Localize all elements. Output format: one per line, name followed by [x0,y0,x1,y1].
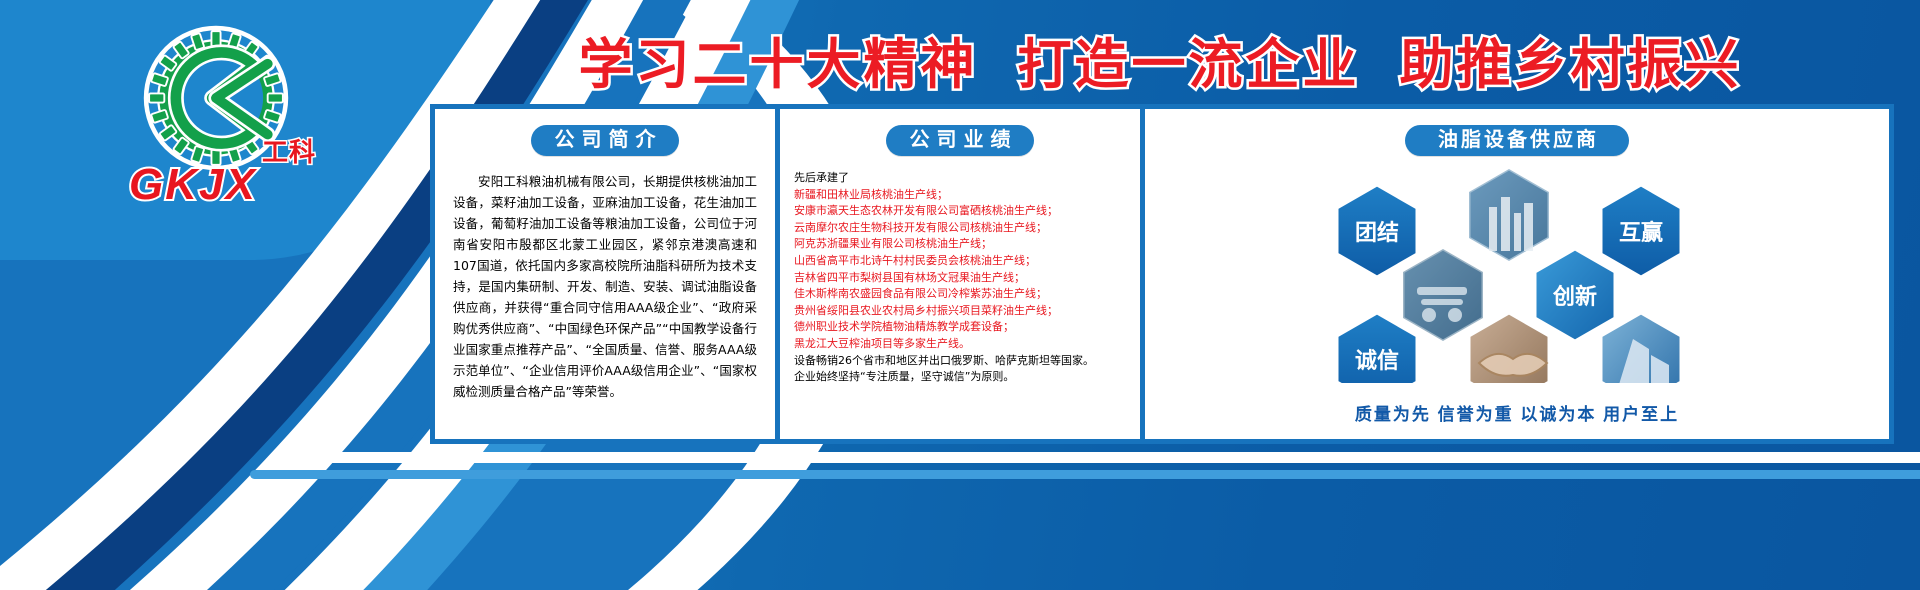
achievement-item: 佳木斯桦南农盛园食品有限公司冷榨紫苏油生产线； [794,286,1140,303]
panel-title-company-profile: 公司简介 [531,125,679,156]
content-frame: 公司简介 安阳工科粮油机械有限公司，长期提供核桃油加工设备，菜籽油加工设备，亚麻… [430,104,1894,444]
achievement-item: 阿克苏浙疆果业有限公司核桃油生产线； [794,236,1140,253]
achievement-item: 吉林省四平市梨树县国有林场文冠果油生产线； [794,270,1140,287]
panel-supplier: 油脂设备供应商 [1145,109,1889,439]
achievement-item: 云南摩尔农庄生物科技开发有限公司核桃油生产线； [794,220,1140,237]
panel-company-achievements: 公司业绩 先后承建了新疆和田林业局核桃油生产线；安康市瀛天生态农林开发有限公司富… [780,109,1140,439]
hex-tuanjie: 团结 [1337,185,1417,277]
achievement-item: 新疆和田林业局核桃油生产线； [794,187,1140,204]
panel-company-profile: 公司简介 安阳工科粮油机械有限公司，长期提供核桃油加工设备，菜籽油加工设备，亚麻… [435,109,775,439]
svg-text:团结: 团结 [1355,220,1399,246]
poster-canvas: 工科 GKJX 学习二十大精神 打造一流企业 助推乡村振兴 公司简介 安阳工科粮… [0,0,1920,590]
achievement-item: 黑龙江大豆榨油项目等多家生产线。 [794,336,1140,353]
achievement-lead: 先后承建了 [794,170,1140,187]
logo-english-name: GKJX [129,160,257,210]
hex-photo-building [1601,313,1681,383]
hex-photo-handshake [1469,313,1549,383]
hex-huying: 互赢 [1601,185,1681,277]
panel-title-company-achievements: 公司业绩 [886,125,1034,156]
achievement-item: 德州职业技术学院植物油精炼教学成套设备； [794,319,1140,336]
company-profile-body: 安阳工科粮油机械有限公司，长期提供核桃油加工设备，菜籽油加工设备，亚麻油加工设备… [453,171,757,402]
hex-photo-equipment [1403,249,1483,341]
page-title: 学习二十大精神 打造一流企业 助推乡村振兴 [430,22,1890,96]
hexagon-cluster: 团结 互赢 [1145,163,1889,383]
achievement-footer-line: 企业始终坚持“专注质量，坚守诚信”为原则。 [794,369,1140,386]
achievement-list: 先后承建了新疆和田林业局核桃油生产线；安康市瀛天生态农林开发有限公司富硒核桃油生… [794,170,1140,386]
achievement-item: 山西省高平市北诗午村村民委员会核桃油生产线； [794,253,1140,270]
achievement-item: 贵州省绥阳县农业农村局乡村振兴项目菜籽油生产线； [794,303,1140,320]
achievement-item: 安康市瀛天生态农林开发有限公司富硒核桃油生产线； [794,203,1140,220]
brand-logo: 工科 GKJX [112,22,327,217]
headline-part-1: 学习二十大精神 [579,20,978,99]
hex-chengxin: 诚信 [1337,313,1417,383]
svg-text:互赢: 互赢 [1619,220,1663,246]
headline-part-2: 打造一流企业 [1018,20,1360,99]
bottom-bar-white [300,452,1920,463]
hexagon-graphic: 团结 互赢 [1145,163,1889,383]
svg-text:诚信: 诚信 [1355,348,1399,374]
hex-photo-industry [1469,169,1549,261]
headline-part-3: 助推乡村振兴 [1400,20,1742,99]
logo-chinese-name: 工科 [262,132,316,169]
supplier-slogan: 质量为先 信誉为重 以诚为本 用户至上 [1145,400,1889,425]
bottom-bar-light-blue [250,470,1920,479]
svg-text:创新: 创新 [1552,284,1597,310]
panel-title-supplier: 油脂设备供应商 [1405,125,1629,156]
achievement-footer-line: 设备畅销26个省市和地区并出口俄罗斯、哈萨克斯坦等国家。 [794,353,1140,370]
hex-chuangxin: 创新 [1535,249,1615,341]
